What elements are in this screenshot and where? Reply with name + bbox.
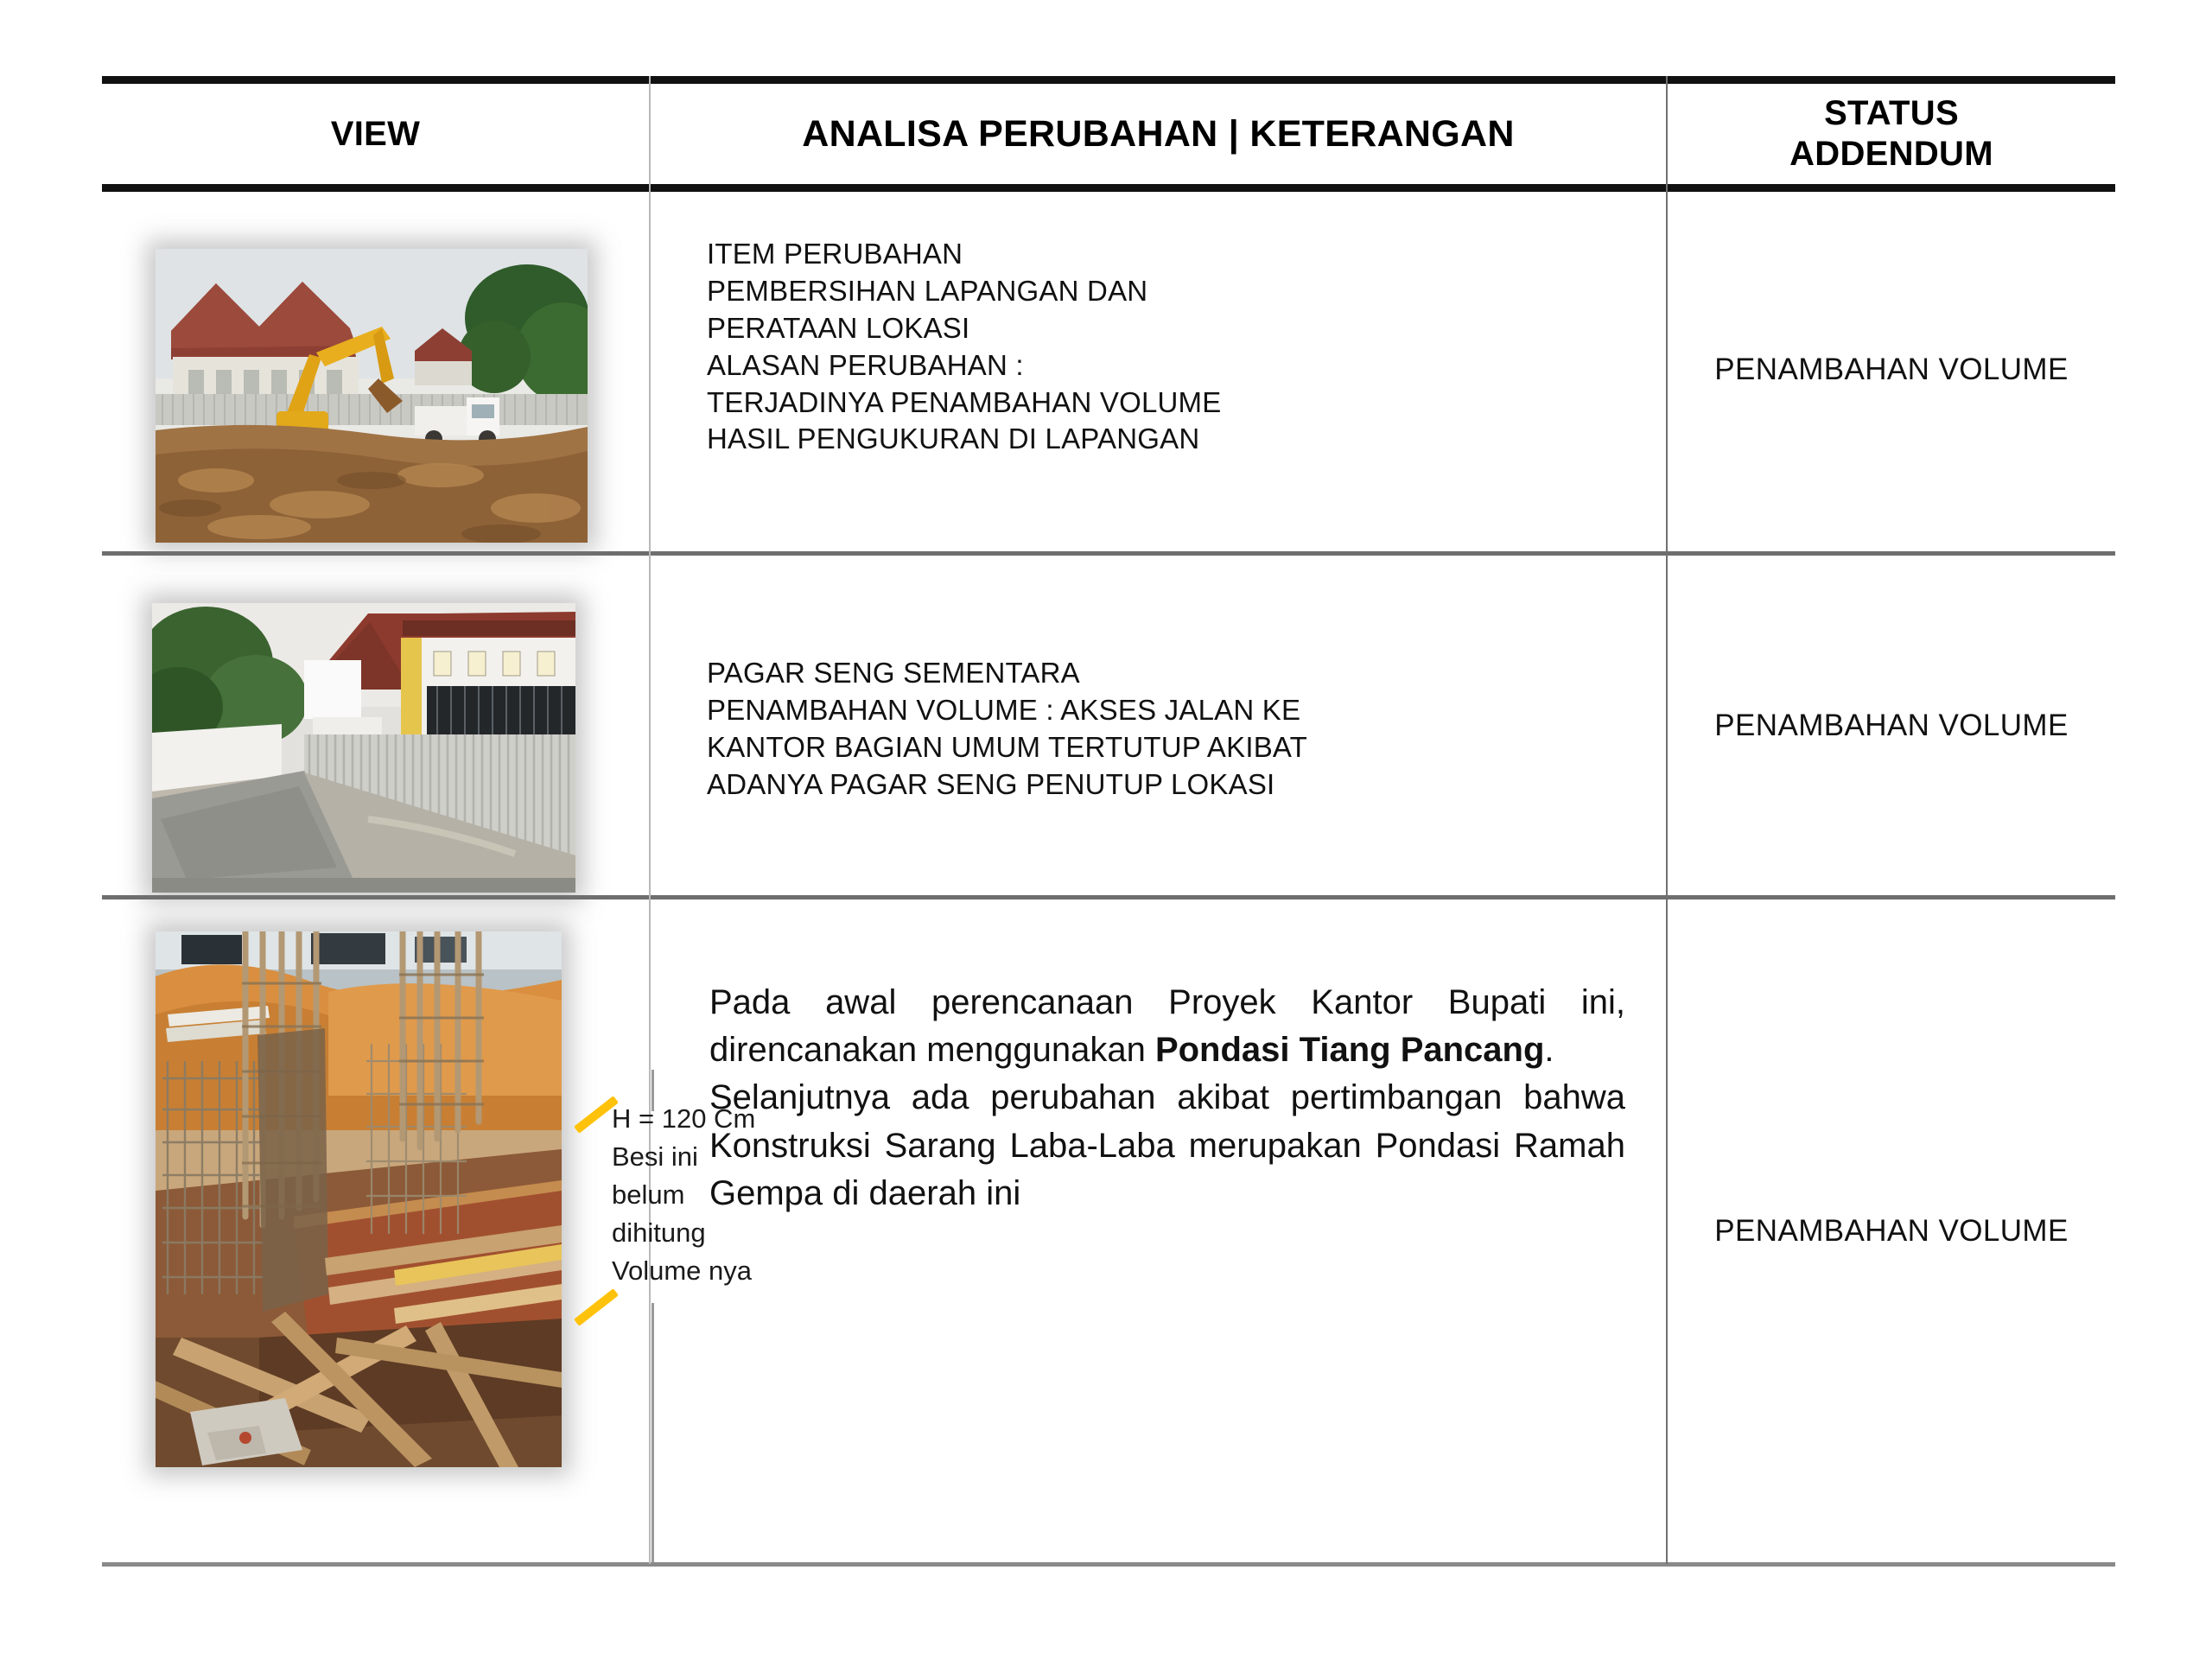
status-badge-row-2: PENAMBAHAN VOLUME (1668, 556, 2115, 895)
analysis-text-row-2: PAGAR SENG SEMENTARA PENAMBAHAN VOLUME :… (707, 655, 1657, 804)
status-label: PENAMBAHAN VOLUME (1714, 1214, 2068, 1249)
header-label-analisa: ANALISA PERUBAHAN | KETERANGAN (802, 113, 1515, 156)
header-cell-analisa: ANALISA PERUBAHAN | KETERANGAN (651, 83, 1666, 185)
callout-marker-bottom-icon (574, 1288, 619, 1326)
table-header-row: VIEW ANALISA PERUBAHAN | KETERANGAN STAT… (102, 83, 2115, 185)
photo-site-clearing (156, 249, 588, 543)
header-label-view: VIEW (331, 115, 420, 154)
callout-leader-bottom (652, 1303, 654, 1562)
table-row (152, 603, 575, 893)
header-label-status-line1: STATUS (1824, 93, 1959, 134)
status-badge-row-1: PENAMBAHAN VOLUME (1668, 188, 2115, 551)
status-label: PENAMBAHAN VOLUME (1714, 709, 2068, 743)
photo-foundation-rebar (156, 931, 562, 1467)
table-row (156, 931, 562, 1467)
analysis-paragraph-row-3: Pada awal perencanaan Proyek Kantor Bupa… (709, 979, 1625, 1217)
analysis-table: VIEW ANALISA PERUBAHAN | KETERANGAN STAT… (102, 76, 2115, 1567)
header-cell-status: STATUS ADDENDUM (1668, 83, 2115, 185)
paragraph-part-2: . (1544, 1031, 1554, 1069)
table-row (156, 249, 588, 543)
paragraph-bold-term: Pondasi Tiang Pancang (1155, 1031, 1544, 1069)
callout-line-5: Volume nya (612, 1252, 798, 1290)
table-bottom-border (102, 1562, 2115, 1567)
analysis-text-row-1: ITEM PERUBAHAN PEMBERSIHAN LAPANGAN DAN … (707, 236, 1649, 458)
header-cell-view: VIEW (102, 83, 649, 185)
photo-temporary-fence (152, 603, 575, 893)
status-label: PENAMBAHAN VOLUME (1714, 353, 2068, 387)
document-page: VIEW ANALISA PERUBAHAN | KETERANGAN STAT… (0, 0, 2212, 1659)
header-label-status-line2: ADDENDUM (1789, 134, 1993, 175)
callout-line-4: dihitung (612, 1214, 798, 1252)
status-badge-row-3: PENAMBAHAN VOLUME (1668, 899, 2115, 1562)
paragraph-part-3: Selanjutnya ada perubahan akibat pertimb… (709, 1078, 1625, 1211)
column-divider-view-analisa (649, 76, 651, 1564)
